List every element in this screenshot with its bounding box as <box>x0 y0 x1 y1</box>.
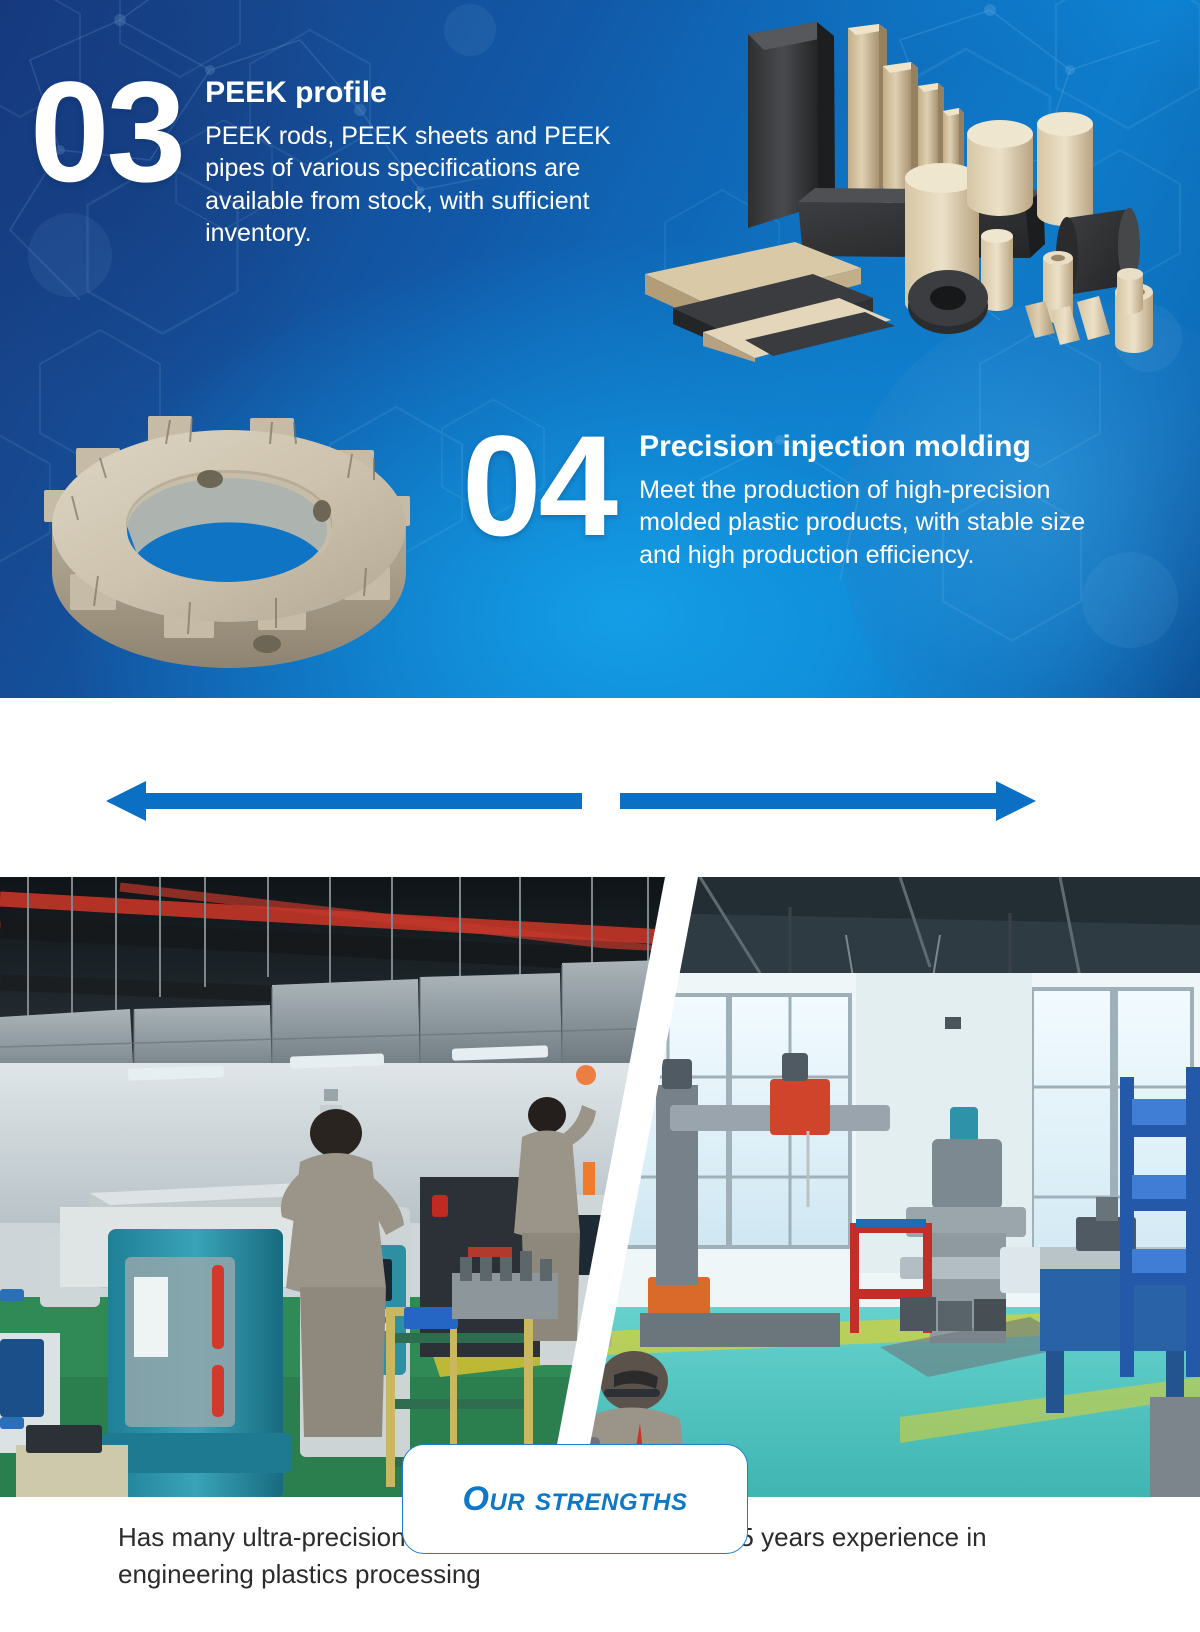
factory-photo-gallery: 模具车间 Mold Workshop <box>0 877 1200 1497</box>
feature-block-03: 03 PEEK profile PEEK rods, PEEK sheets a… <box>30 72 630 250</box>
peek-stock-products-photo <box>615 6 1200 362</box>
strengths-label: Our strengths <box>462 1480 687 1519</box>
feature-number-03: 03 <box>30 72 183 195</box>
strengths-label-box: Our strengths <box>402 1444 748 1554</box>
feature-title-03: PEEK profile <box>205 76 630 111</box>
tan-cylinder-right <box>1037 112 1093 226</box>
hero-panel: 03 PEEK profile PEEK rods, PEEK sheets a… <box>0 0 1200 698</box>
peek-sheets-stack <box>645 242 895 362</box>
tan-cylinder-mid <box>967 120 1033 216</box>
gear-ring-top-face <box>52 430 406 622</box>
right-arrow <box>620 781 1036 821</box>
feature-body-04: Meet the production of high-precision mo… <box>639 474 1119 572</box>
feature-title-04: Precision injection molding <box>639 430 1119 465</box>
left-arrow <box>106 781 582 821</box>
tan-tube-c <box>1117 268 1143 314</box>
black-ring <box>908 270 988 334</box>
strengths-arrows <box>0 698 1200 876</box>
product-feature-page: 03 PEEK profile PEEK rods, PEEK sheets a… <box>0 0 1200 1632</box>
peek-gear-ring-photo <box>14 378 444 674</box>
feature-body-03: PEEK rods, PEEK sheets and PEEK pipes of… <box>205 120 630 250</box>
feature-block-04: 04 Precision injection molding Meet the … <box>462 426 1119 571</box>
strengths-divider-section: Our strengths <box>0 698 1200 876</box>
feature-number-04: 04 <box>462 426 615 549</box>
